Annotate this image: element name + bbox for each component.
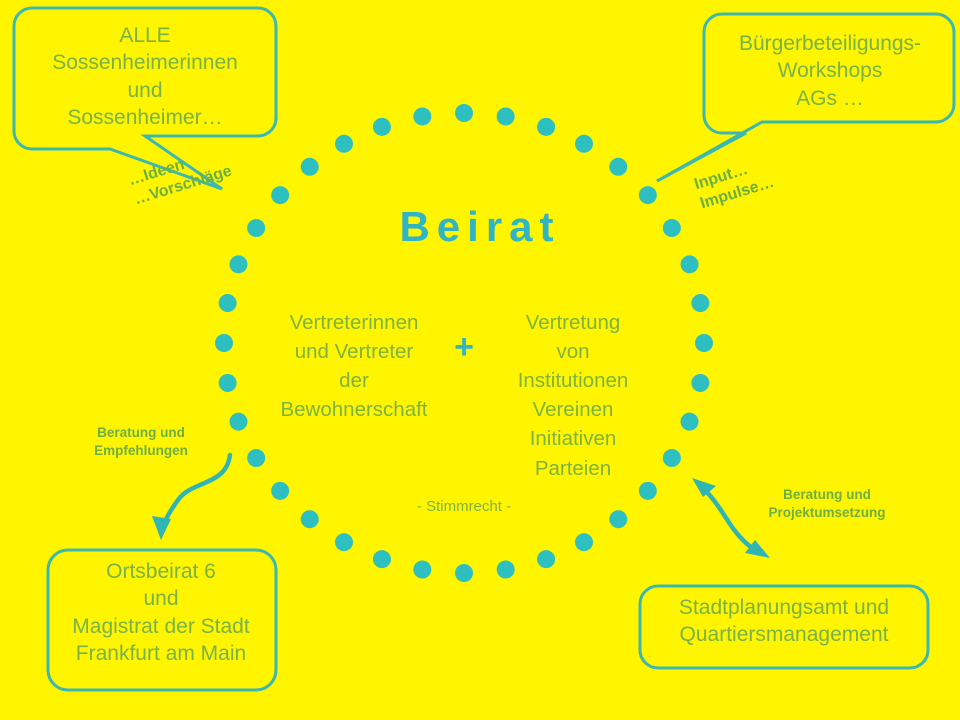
ring-dot — [575, 533, 593, 551]
plus-icon: + — [440, 330, 488, 364]
ring-dot — [681, 413, 699, 431]
ring-dot — [497, 107, 515, 125]
ring-dot — [537, 550, 555, 568]
ring-dot — [229, 255, 247, 273]
arrow-left-advice — [152, 455, 230, 540]
ring-dot — [247, 449, 265, 467]
ring-dot — [497, 561, 515, 579]
diagram-title: Beirat — [0, 203, 960, 251]
center-column-right: Vertretung von Institutionen Vereinen In… — [488, 308, 658, 483]
ring-dot — [609, 158, 627, 176]
ring-dot — [639, 186, 657, 204]
ring-dot — [301, 158, 319, 176]
ring-dot — [681, 255, 699, 273]
voting-rights-note: - Stimmrecht - — [344, 498, 584, 515]
arrow-label-bottom-right: Beratung und Projektumsetzung — [744, 486, 910, 522]
ring-dot — [575, 135, 593, 153]
ring-dot — [609, 510, 627, 528]
center-column-left: Vertreterinnen und Vertreter der Bewohne… — [268, 308, 440, 424]
bubble-text-top-left: ALLE Sossenheimerinnen und Sossenheimer… — [20, 22, 270, 131]
ring-dot — [373, 550, 391, 568]
ring-dot — [335, 135, 353, 153]
ring-dot — [271, 482, 289, 500]
ring-dot — [219, 374, 237, 392]
ring-dot — [373, 118, 391, 136]
ring-dot — [639, 482, 657, 500]
ring-dot — [663, 449, 681, 467]
ring-dot — [691, 294, 709, 312]
ring-dot — [455, 104, 473, 122]
ring-dot — [219, 294, 237, 312]
box-text-bottom-right: Stadtplanungsamt und Quartiersmanagement — [648, 594, 920, 649]
ring-dot — [413, 561, 431, 579]
ring-dot — [335, 533, 353, 551]
ring-dot — [455, 564, 473, 582]
ring-dot — [691, 374, 709, 392]
ring-dot — [229, 413, 247, 431]
ring-dot — [215, 334, 233, 352]
bubble-text-top-right: Bürgerbeteiligungs- Workshops AGs … — [712, 30, 948, 112]
arrow-label-bottom-left: Beratung und Empfehlungen — [78, 424, 204, 460]
diagram-canvas: ALLE Sossenheimerinnen und Sossenheimer…… — [0, 0, 960, 720]
ring-dot — [537, 118, 555, 136]
ring-dot — [301, 510, 319, 528]
ring-dot — [413, 107, 431, 125]
ring-dot — [695, 334, 713, 352]
ring-dot — [271, 186, 289, 204]
box-text-bottom-left: Ortsbeirat 6 und Magistrat der Stadt Fra… — [42, 558, 280, 667]
